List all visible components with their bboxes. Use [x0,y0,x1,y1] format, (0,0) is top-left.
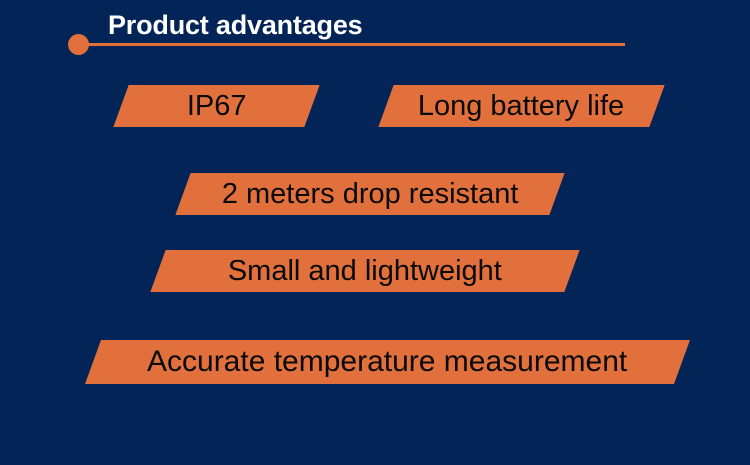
slide-header: Product advantages [0,0,750,70]
advantage-label: IP67 [187,92,247,121]
advantage-label: Accurate temperature measurement [147,347,627,377]
advantage-banner-battery-life: Long battery life [378,85,664,127]
advantage-banner-drop-resistant: 2 meters drop resistant [175,173,564,215]
advantage-banner-ip67: IP67 [113,85,319,127]
product-advantages-slide: Product advantages IP67 Long battery lif… [0,0,750,465]
advantage-label: 2 meters drop resistant [222,180,519,209]
advantage-banner-lightweight: Small and lightweight [150,250,579,292]
advantage-label: Small and lightweight [228,257,502,286]
header-divider [86,43,625,46]
advantage-label: Long battery life [418,92,624,121]
advantage-banner-temperature-measurement: Accurate temperature measurement [85,340,690,384]
page-title: Product advantages [108,9,362,42]
